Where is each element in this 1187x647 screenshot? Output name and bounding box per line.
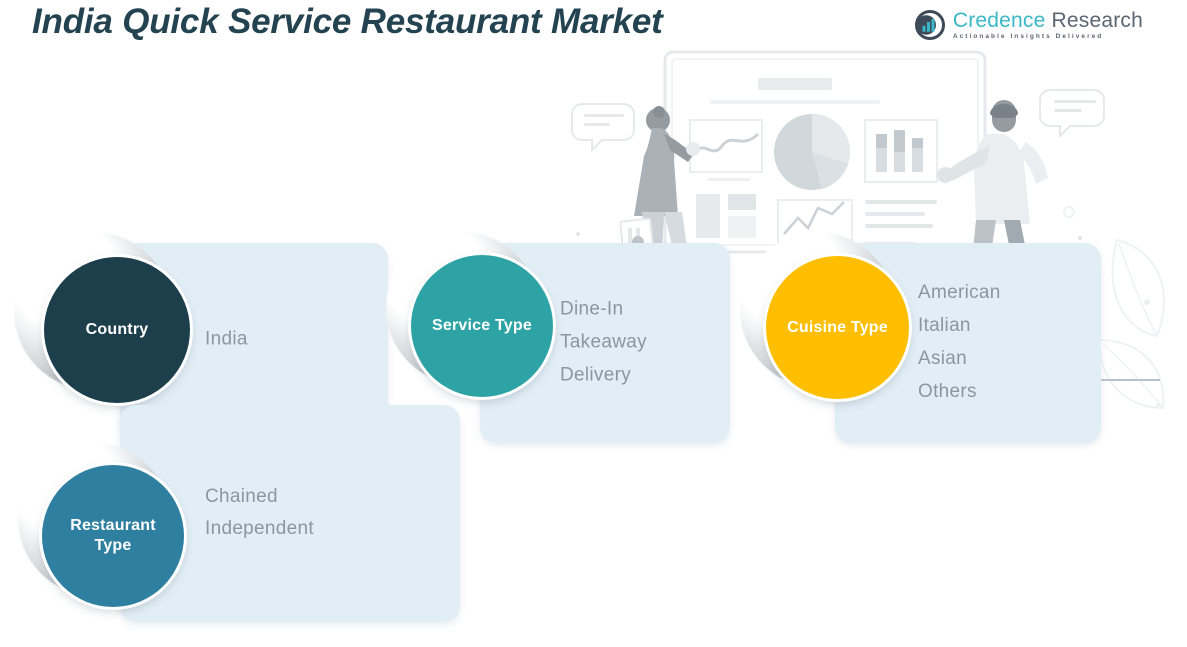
bubble-country[interactable]: Country: [44, 257, 190, 403]
segment-label: Restaurant Type: [64, 516, 162, 555]
page-title: India Quick Service Restaurant Market: [32, 2, 663, 42]
decorative-rule: [1100, 379, 1160, 381]
bubble-service-type[interactable]: Service Type: [411, 255, 553, 397]
infographic-canvas: India Quick Service Restaurant Market Cr…: [0, 0, 1187, 647]
segment-label-line1: Restaurant: [70, 517, 156, 534]
segment-label-line2: Type: [95, 537, 132, 554]
segment-item: Independent: [205, 517, 314, 544]
brand-logo: Credence Research Actionable Insights De…: [915, 10, 1143, 41]
segment-label: Country: [80, 320, 155, 340]
brand-name-primary: Credence: [953, 10, 1046, 31]
segment-item: India: [205, 327, 248, 354]
segment-bubble-cuisine-type[interactable]: Cuisine Type: [740, 232, 925, 417]
segment-item: Italian: [918, 313, 1001, 340]
segment-bubble-restaurant-type[interactable]: Restaurant Type: [18, 443, 198, 623]
segment-item: Others: [918, 379, 1001, 406]
bubble-cuisine-type[interactable]: Cuisine Type: [766, 256, 909, 399]
segment-item: Chained: [205, 484, 314, 511]
brand-tagline: Actionable Insights Delivered: [953, 34, 1143, 41]
segment-item: Dine-In: [560, 297, 647, 324]
brand-name-secondary: Research: [1052, 10, 1143, 31]
segment-label: Service Type: [426, 316, 538, 336]
segment-item: Asian: [918, 346, 1001, 373]
segment-bubble-service-type[interactable]: Service Type: [386, 232, 566, 412]
bubble-restaurant-type[interactable]: Restaurant Type: [42, 465, 184, 607]
segment-label: Cuisine Type: [781, 318, 894, 338]
bar-chart-circle-logo-icon: [915, 10, 945, 40]
segment-bubble-country[interactable]: Country: [14, 232, 204, 422]
segment-item: Delivery: [560, 362, 647, 389]
speech-bubble-right: [1040, 90, 1104, 136]
segment-item: Takeaway: [560, 330, 647, 357]
speech-bubble-left: [572, 104, 634, 150]
segment-item: American: [918, 280, 1001, 307]
